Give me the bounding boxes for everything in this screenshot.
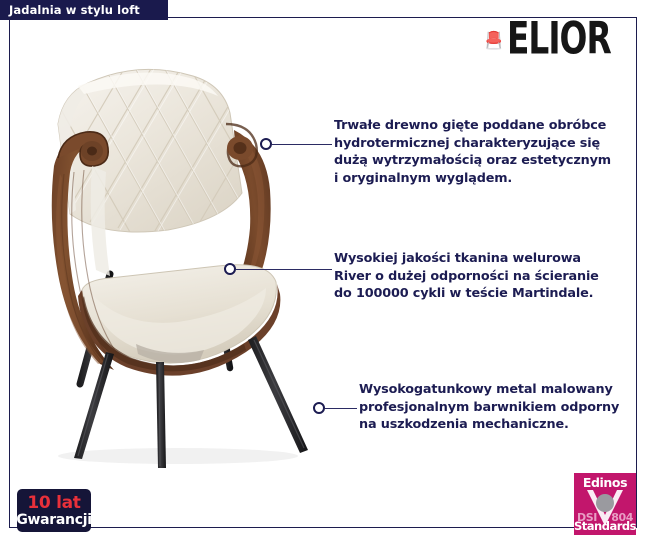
- red-chair-icon: [484, 8, 503, 70]
- certification-badge: Edinos DSI 804 Standards: [574, 473, 636, 535]
- page-title-banner: Jadalnia w stylu loft: [0, 0, 168, 20]
- callout-dot-metal[interactable]: [313, 402, 325, 414]
- callout-text-metal: Wysokogatunkowy metal malowany profesjon…: [359, 381, 639, 434]
- callout-line-fabric: [236, 269, 332, 270]
- product-photo: [18, 38, 338, 468]
- callout-dot-wood[interactable]: [260, 138, 272, 150]
- callout-line-wood: [272, 144, 332, 145]
- warranty-years: 10 lat: [27, 494, 80, 512]
- certification-title: Edinos: [574, 475, 636, 490]
- callout-text-fabric: Wysokiej jakości tkanina welurowa River …: [334, 250, 634, 303]
- page-title: Jadalnia w stylu loft: [9, 3, 140, 17]
- warranty-badge: 10 lat Gwarancji: [17, 489, 91, 532]
- infographic-root: Jadalnia w stylu loft ELIOR: [0, 0, 650, 560]
- certification-subtitle: Standards: [574, 519, 636, 533]
- callout-dot-fabric[interactable]: [224, 263, 236, 275]
- callout-line-metal: [325, 408, 357, 409]
- callout-text-wood: Trwałe drewno gięte poddane obróbce hydr…: [334, 117, 634, 187]
- brand-logo: ELIOR: [484, 7, 634, 71]
- warranty-label: Gwarancji: [16, 512, 91, 528]
- brand-name: ELIOR: [507, 17, 611, 62]
